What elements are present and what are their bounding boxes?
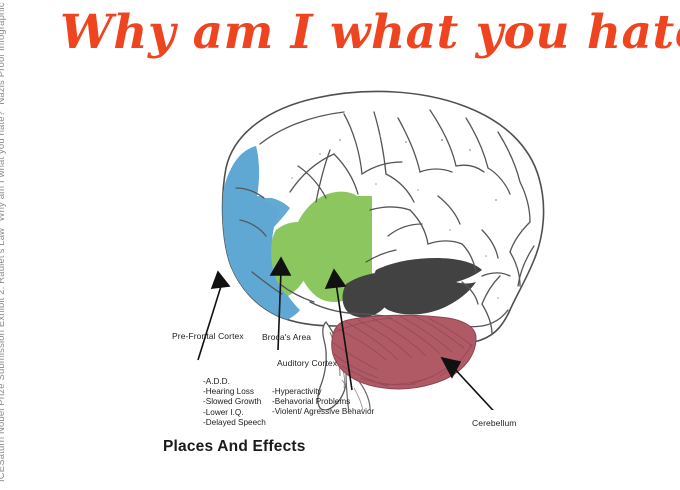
- effects-item: -Behavorial Problems: [272, 397, 374, 407]
- region-cerebellum: [332, 315, 476, 389]
- effects-item: -Hearing Loss: [203, 387, 266, 397]
- effects-item: -Hyperactivity: [272, 387, 374, 397]
- label-pre-frontal-cortex: Pre-Frontal Cortex: [172, 331, 244, 341]
- brain-diagram: [130, 70, 550, 410]
- sidebar-caption: ICESaturn Nobel Prize Submission Exhibit…: [0, 0, 26, 490]
- arrow-cerebellum: [442, 358, 502, 410]
- effects-list-left: -A.D.D. -Hearing Loss -Slowed Growth -Lo…: [203, 377, 266, 428]
- effects-item: -Lower I.Q.: [203, 408, 266, 418]
- label-auditory-cortex: Auditory Cortex: [277, 358, 337, 368]
- label-cerebellum: Cerebellum: [472, 418, 516, 428]
- page-title: Why am I what you hate?: [60, 4, 660, 62]
- effects-list-right: -Hyperactivity -Behavorial Problems -Vio…: [272, 387, 374, 418]
- label-brocas-area: Broca's Area: [262, 332, 311, 342]
- section-heading: Places And Effects: [163, 438, 306, 456]
- arrow-prefrontal: [198, 272, 229, 360]
- sidebar-caption-text: ICESaturn Nobel Prize Submission Exhibit…: [0, 0, 7, 482]
- effects-item: -Slowed Growth: [203, 397, 266, 407]
- effects-item: -Delayed Speech: [203, 418, 266, 428]
- effects-item: -A.D.D.: [203, 377, 266, 387]
- effects-item: -Violent/ Agressive Behavior: [272, 407, 374, 417]
